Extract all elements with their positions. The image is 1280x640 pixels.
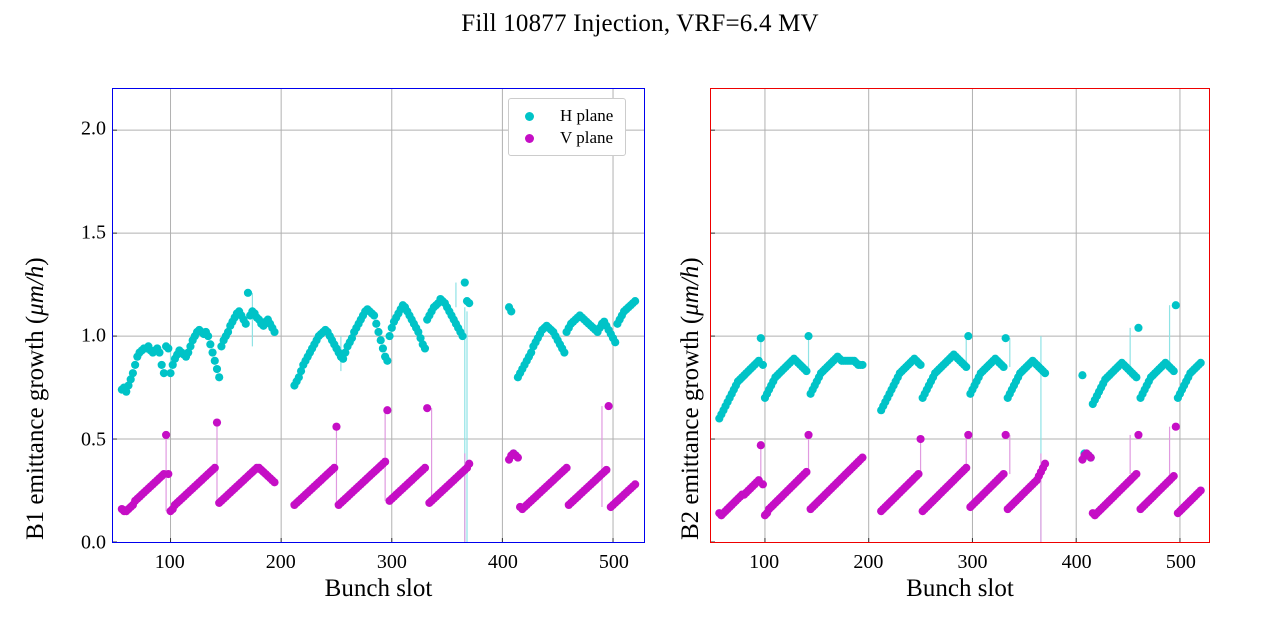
y-axis-label-b1-suffix: )	[22, 257, 49, 265]
x-tick-labels-b2: 100200300400500	[710, 547, 1210, 577]
legend-label-v-plane: V plane	[560, 128, 613, 148]
y-tick-labels-b1: 0.00.51.01.52.0	[58, 88, 106, 543]
y-axis-label-b2: B2 emittance growth (μm/h)	[677, 257, 705, 540]
y-axis-label-b1-unit: μm/h	[22, 266, 49, 316]
x-tick-label: 300	[377, 551, 407, 574]
x-tick-label: 300	[958, 551, 988, 574]
plot-area-b2	[711, 89, 1209, 542]
plot-panel-b2[interactable]	[710, 88, 1210, 543]
y-axis-label-b2-prefix: B2 emittance growth (	[677, 316, 704, 540]
x-tick-label: 200	[853, 551, 883, 574]
y-tick-label: 2.0	[62, 118, 106, 141]
x-tick-label: 100	[155, 551, 185, 574]
x-tick-label: 400	[488, 551, 518, 574]
x-tick-label: 400	[1062, 551, 1092, 574]
y-axis-label-b1-prefix: B1 emittance growth (	[22, 316, 49, 540]
plot-area-b1	[113, 89, 644, 542]
x-axis-label-b2: Bunch slot	[710, 575, 1210, 603]
y-tick-label: 1.0	[62, 325, 106, 348]
plot-panel-b1[interactable]	[112, 88, 645, 543]
figure-canvas: Fill 10877 Injection, VRF=6.4 MV B1 emit…	[0, 0, 1280, 640]
y-axis-label-b1: B1 emittance growth (μm/h)	[22, 257, 50, 540]
legend[interactable]: H plane V plane	[508, 98, 626, 156]
x-tick-labels-b1: 100200300400500	[112, 547, 645, 577]
x-tick-label: 200	[266, 551, 296, 574]
legend-item-h-plane[interactable]: H plane	[519, 105, 613, 127]
figure-title: Fill 10877 Injection, VRF=6.4 MV	[0, 10, 1280, 38]
x-tick-label: 100	[749, 551, 779, 574]
y-axis-label-b2-unit: μm/h	[677, 266, 704, 316]
x-tick-label: 500	[1166, 551, 1196, 574]
legend-marker-v-plane-icon	[525, 134, 534, 143]
legend-item-v-plane[interactable]: V plane	[519, 127, 613, 149]
y-tick-label: 1.5	[62, 221, 106, 244]
legend-marker-h-plane-icon	[525, 112, 534, 121]
x-tick-label: 500	[599, 551, 629, 574]
legend-label-h-plane: H plane	[560, 106, 613, 126]
y-tick-label: 0.0	[62, 532, 106, 555]
x-axis-label-b1: Bunch slot	[112, 575, 645, 603]
y-axis-label-b2-suffix: )	[677, 257, 704, 265]
y-tick-label: 0.5	[62, 428, 106, 451]
